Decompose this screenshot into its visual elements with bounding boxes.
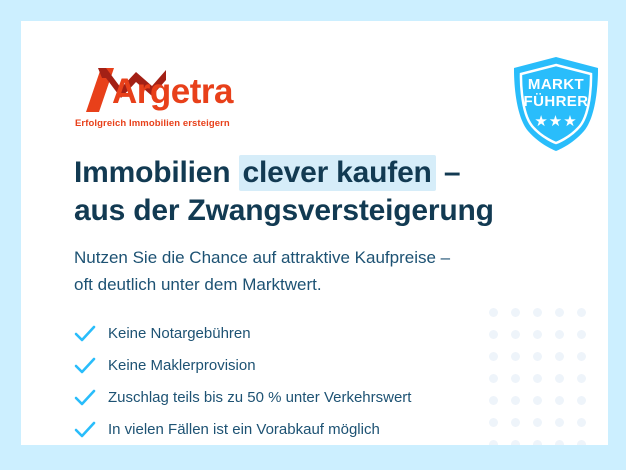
benefit-label: Keine Notargebühren (108, 325, 251, 343)
headline: Immobilien clever kaufen – aus der Zwang… (74, 154, 574, 230)
subheading: Nutzen Sie die Chance auf attraktive Kau… (74, 244, 594, 298)
market-leader-badge: MARKT FÜHRER ★★★ (508, 55, 604, 153)
decorative-dot (577, 352, 586, 361)
benefit-item: Keine Maklerprovision (74, 350, 534, 382)
banner-card: Argetra Erfolgreich Immobilien ersteiger… (21, 21, 608, 445)
decorative-dot (555, 330, 564, 339)
headline-line-2: aus der Zwangsversteigerung (74, 192, 574, 230)
benefit-item: Keine Notargebühren (74, 318, 534, 350)
decorative-dot (511, 308, 520, 317)
badge-line-1: MARKT (508, 76, 604, 93)
decorative-dot (577, 374, 586, 383)
decorative-dot (577, 308, 586, 317)
headline-line-1: Immobilien clever kaufen – (74, 154, 574, 192)
benefit-item: Zuschlag teils bis zu 50 % unter Verkehr… (74, 382, 534, 414)
benefit-label: Keine Maklerprovision (108, 357, 256, 375)
decorative-dot (555, 374, 564, 383)
logo-tagline: Erfolgreich Immobilien ersteigern (75, 118, 230, 129)
logo-wordmark: Argetra (112, 72, 233, 112)
decorative-dot (555, 396, 564, 405)
decorative-dot (577, 440, 586, 446)
benefit-label: Zuschlag teils bis zu 50 % unter Verkehr… (108, 389, 411, 407)
argetra-logo[interactable]: Argetra Erfolgreich Immobilien ersteiger… (74, 66, 264, 132)
badge-stars: ★★★ (508, 112, 604, 130)
subheading-line-1: Nutzen Sie die Chance auf attraktive Kau… (74, 244, 594, 271)
decorative-dot (577, 330, 586, 339)
decorative-dot (555, 418, 564, 427)
check-icon (74, 389, 96, 407)
headline-post: – (436, 156, 461, 189)
promo-banner: Argetra Erfolgreich Immobilien ersteiger… (0, 0, 626, 470)
decorative-dot (555, 308, 564, 317)
decorative-dot (555, 352, 564, 361)
decorative-dot (577, 396, 586, 405)
benefit-label: In vielen Fällen ist ein Vorabkauf mögli… (108, 421, 380, 439)
subheading-line-2: oft deutlich unter dem Marktwert. (74, 271, 594, 298)
benefits-list: Keine NotargebührenKeine Maklerprovision… (74, 318, 534, 445)
decorative-dot (555, 440, 564, 446)
headline-pre: Immobilien (74, 156, 239, 189)
benefit-item: In vielen Fällen ist ein Vorabkauf mögli… (74, 414, 534, 445)
decorative-dot (577, 418, 586, 427)
badge-line-2: FÜHRER (508, 93, 604, 110)
headline-highlight: clever kaufen (239, 155, 436, 191)
check-icon (74, 325, 96, 343)
check-icon (74, 357, 96, 375)
decorative-dot (489, 308, 498, 317)
check-icon (74, 421, 96, 439)
decorative-dot (533, 308, 542, 317)
